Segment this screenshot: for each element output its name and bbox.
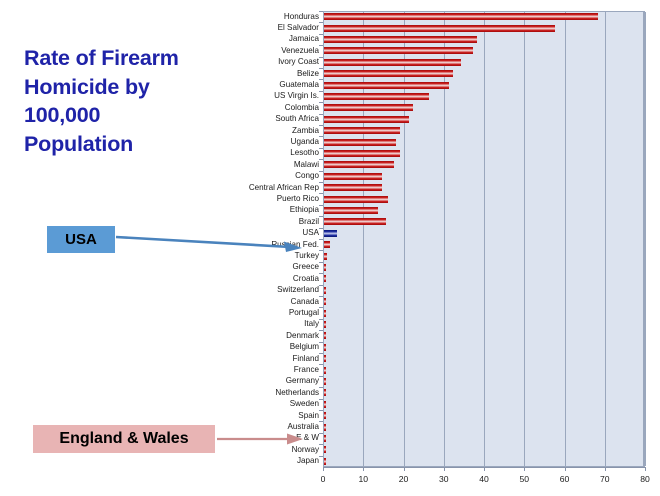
category-label: Congo (295, 172, 319, 180)
y-axis-tick (319, 250, 323, 251)
y-axis-tick (319, 79, 323, 80)
bar-congo (324, 173, 382, 180)
category-label: Netherlands (275, 389, 319, 397)
x-axis-label-60: 60 (560, 474, 570, 484)
bar-italy (324, 321, 326, 328)
y-axis-tick (319, 444, 323, 445)
bar-netherlands (324, 389, 326, 396)
bar-australia (324, 424, 326, 431)
x-axis-label-10: 10 (358, 474, 368, 484)
bar-honduras (324, 13, 598, 20)
category-label: Guatemala (279, 81, 319, 89)
y-axis-tick (319, 410, 323, 411)
bar-portugal (324, 310, 326, 317)
bar-belgium (324, 344, 326, 351)
x-axis-label-20: 20 (399, 474, 409, 484)
bar-ivory-coast (324, 59, 461, 66)
usa-callout-box[interactable]: USA (47, 226, 115, 253)
y-axis-tick (319, 114, 323, 115)
category-label: El Salvador (278, 24, 319, 32)
category-label: Central African Rep (249, 184, 319, 192)
y-axis-tick (319, 239, 323, 240)
y-axis-tick (319, 342, 323, 343)
category-label: Colombia (285, 104, 319, 112)
x-axis-label-40: 40 (479, 474, 489, 484)
category-label: France (294, 366, 319, 374)
category-label: Finland (292, 355, 319, 363)
x-axis-tick-70 (605, 467, 606, 471)
x-axis-tick-30 (444, 467, 445, 471)
x-axis-tick-80 (645, 467, 646, 471)
bar-norway (324, 446, 326, 453)
y-axis-tick (319, 171, 323, 172)
bar-finland (324, 355, 326, 362)
bar-central-african-rep (324, 184, 382, 191)
category-label: Belize (297, 70, 319, 78)
category-label: Zambia (292, 127, 319, 135)
category-label: Malawi (294, 161, 319, 169)
usa-arrow-icon (114, 228, 314, 254)
england-wales-arrow-icon (215, 430, 311, 448)
category-label: Japan (297, 457, 319, 465)
y-axis-tick (319, 125, 323, 126)
y-axis-tick (319, 399, 323, 400)
bar-croatia (324, 275, 326, 282)
bar-belize (324, 70, 453, 77)
y-axis-tick (319, 353, 323, 354)
y-axis-tick (319, 262, 323, 263)
category-label: Switzerland (277, 286, 319, 294)
y-axis-tick (319, 364, 323, 365)
bar-venezuela (324, 47, 473, 54)
bar-jamaica (324, 36, 477, 43)
bar-greece (324, 264, 326, 271)
y-axis-tick (319, 330, 323, 331)
bar-turkey (324, 253, 327, 260)
y-axis-tick (319, 45, 323, 46)
england-wales-callout-box[interactable]: England & Wales (33, 425, 215, 453)
y-axis-tick (319, 22, 323, 23)
x-axis-label-70: 70 (600, 474, 610, 484)
y-axis-tick (319, 91, 323, 92)
bar-france (324, 367, 326, 374)
bar-lesotho (324, 150, 400, 157)
category-label: Portugal (289, 309, 319, 317)
bar-denmark (324, 332, 326, 339)
category-label: Honduras (284, 13, 319, 21)
bar-puerto-rico (324, 196, 388, 203)
y-axis-tick (319, 205, 323, 206)
bar-uganda (324, 139, 396, 146)
bar-guatemala (324, 82, 449, 89)
category-label: Spain (298, 412, 319, 420)
category-label: Lesotho (290, 149, 319, 157)
category-label: Croatia (293, 275, 319, 283)
category-label: Puerto Rico (277, 195, 319, 203)
bar-japan (324, 458, 326, 465)
x-axis-tick-60 (565, 467, 566, 471)
x-axis-label-80: 80 (640, 474, 650, 484)
category-label: Jamaica (289, 35, 319, 43)
bar-usa (324, 230, 337, 237)
y-axis-tick (319, 159, 323, 160)
bar-south-africa (324, 116, 409, 123)
y-axis-tick (319, 102, 323, 103)
y-axis-tick (319, 433, 323, 434)
bar-ethiopia (324, 207, 378, 214)
y-axis-tick (319, 228, 323, 229)
x-axis-label-30: 30 (439, 474, 449, 484)
usa-callout-label: USA (65, 231, 97, 248)
bar-malawi (324, 161, 394, 168)
y-axis-tick (319, 182, 323, 183)
england-wales-callout-label: England & Wales (59, 430, 188, 448)
bar-zambia (324, 127, 400, 134)
y-axis-tick (319, 456, 323, 457)
category-label: Brazil (299, 218, 319, 226)
bar-germany (324, 378, 326, 385)
y-axis-tick (319, 285, 323, 286)
y-axis-tick (319, 273, 323, 274)
bar-sweden (324, 401, 326, 408)
category-label: Belgium (290, 343, 319, 351)
y-axis-tick (319, 136, 323, 137)
bar-russian-fed (324, 241, 330, 248)
bar-brazil (324, 218, 386, 225)
category-label: Greece (292, 263, 319, 271)
y-axis-tick (319, 376, 323, 377)
category-label: Sweden (290, 400, 319, 408)
bar-colombia (324, 104, 413, 111)
category-label: Italy (304, 320, 319, 328)
bar-switzerland (324, 287, 326, 294)
slide-canvas: Rate of Firearm Homicide by 100,000 Popu… (0, 0, 660, 496)
y-axis-tick (319, 421, 323, 422)
bar-spain (324, 412, 326, 419)
y-axis-tick (319, 216, 323, 217)
y-axis-tick (319, 193, 323, 194)
x-axis-label-50: 50 (519, 474, 529, 484)
x-axis-tick-20 (404, 467, 405, 471)
category-label: Venezuela (281, 47, 319, 55)
y-axis-tick (319, 148, 323, 149)
y-axis-tick (319, 307, 323, 308)
bar-us-virgin-is (324, 93, 429, 100)
y-axis-tick (319, 57, 323, 58)
category-label: Uganda (291, 138, 319, 146)
x-axis-tick-10 (363, 467, 364, 471)
category-label: US Virgin Is. (274, 92, 319, 100)
x-axis-label-0: 0 (321, 474, 326, 484)
category-label: South Africa (275, 115, 319, 123)
x-axis-tick-50 (524, 467, 525, 471)
y-axis-tick (319, 34, 323, 35)
category-label: Ethiopia (290, 206, 319, 214)
y-axis-tick (319, 68, 323, 69)
bar-canada (324, 298, 326, 305)
x-axis: 01020304050607080 (0, 467, 660, 491)
category-label: Ivory Coast (278, 58, 319, 66)
x-axis-tick-0 (323, 467, 324, 471)
category-label: Denmark (286, 332, 319, 340)
y-axis-tick (319, 319, 323, 320)
category-label: Canada (291, 298, 319, 306)
bar-el-salvador (324, 25, 555, 32)
y-axis-tick (319, 387, 323, 388)
y-axis-tick (319, 11, 323, 12)
y-axis-tick (319, 296, 323, 297)
category-label: Germany (286, 377, 319, 385)
x-axis-tick-40 (484, 467, 485, 471)
bar-e-w (324, 435, 326, 442)
